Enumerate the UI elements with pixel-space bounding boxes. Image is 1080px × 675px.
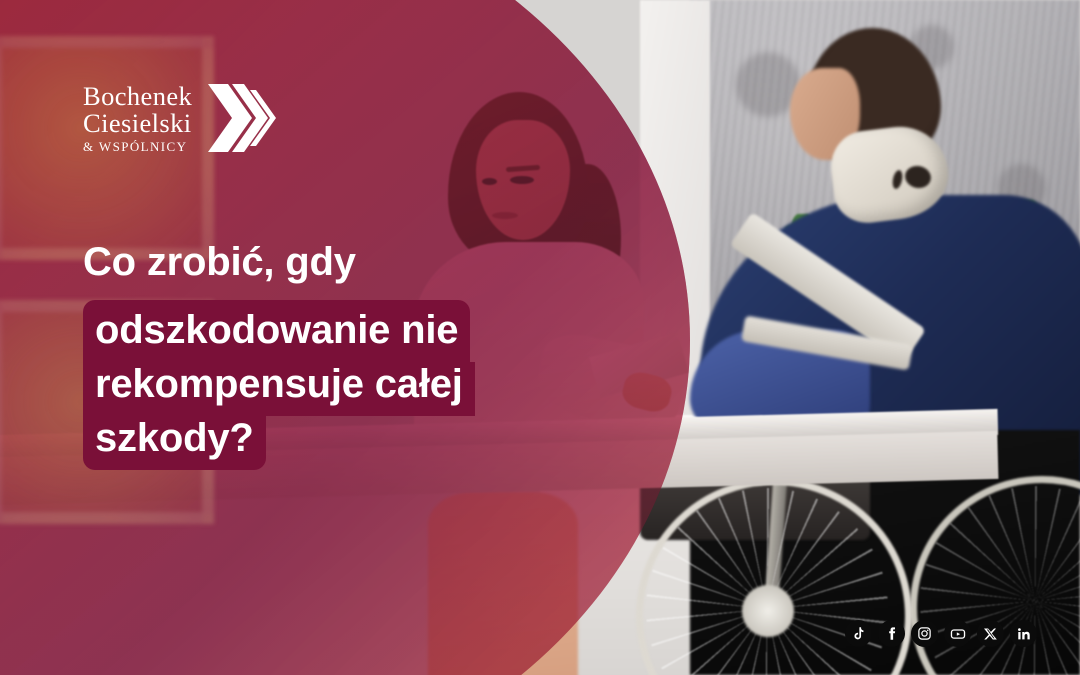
tiktok-icon[interactable]	[845, 620, 872, 647]
x-twitter-icon[interactable]	[977, 620, 1004, 647]
promo-banner: Bochenek Ciesielski & WSPÓLNICY Co zrobi…	[0, 0, 1080, 675]
headline-line-4: szkody?	[83, 416, 266, 470]
headline-line-1: Co zrobić, gdy	[83, 232, 368, 294]
headline: Co zrobić, gdy odszkodowanie nie rekompe…	[83, 232, 613, 470]
youtube-icon[interactable]	[944, 620, 971, 647]
wheelchair-hub	[742, 585, 794, 637]
headline-line-2: odszkodowanie nie	[83, 300, 470, 362]
brand-logo-wordmark: Bochenek Ciesielski & WSPÓLNICY	[83, 83, 192, 153]
brand-logo-line1: Bochenek	[83, 83, 192, 110]
brand-logo[interactable]: Bochenek Ciesielski & WSPÓLNICY	[83, 80, 278, 156]
linkedin-icon[interactable]	[1010, 620, 1037, 647]
facebook-icon[interactable]	[878, 620, 905, 647]
instagram-icon[interactable]	[911, 620, 938, 647]
triple-chevron-logo-icon	[206, 80, 278, 156]
brand-logo-line3: & WSPÓLNICY	[83, 140, 192, 153]
social-links	[845, 620, 1037, 647]
brand-logo-line2: Ciesielski	[83, 110, 192, 137]
headline-line-3: rekompensuje całej	[83, 362, 475, 416]
